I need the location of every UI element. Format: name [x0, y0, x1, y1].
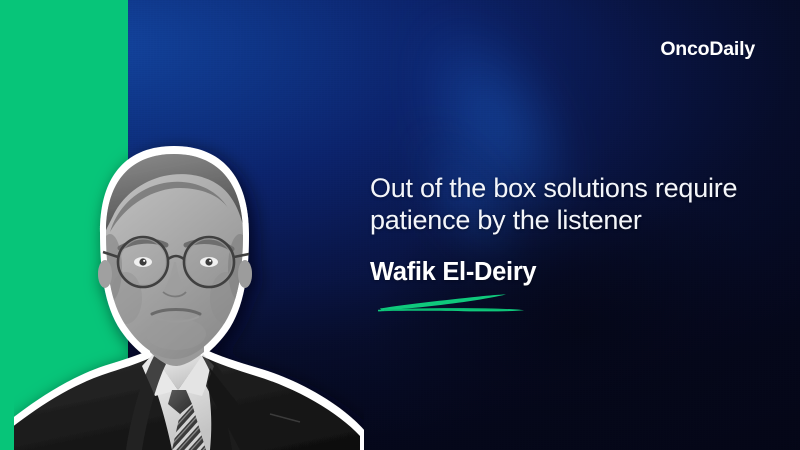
speaker-wrap: Wafik El-Deiry: [370, 258, 765, 287]
oncodaily-logo[interactable]: OncoDaily: [660, 38, 755, 60]
speaker-portrait: [14, 128, 364, 450]
headline-text: Out of the box solutions require patienc…: [370, 172, 765, 236]
speaker-name: Wafik El-Deiry: [370, 258, 765, 287]
green-underline-stroke: [372, 289, 532, 315]
video-thumbnail-card: OncoDaily Out of the box solutions requi…: [0, 0, 800, 450]
text-block: Out of the box solutions require patienc…: [370, 172, 765, 287]
